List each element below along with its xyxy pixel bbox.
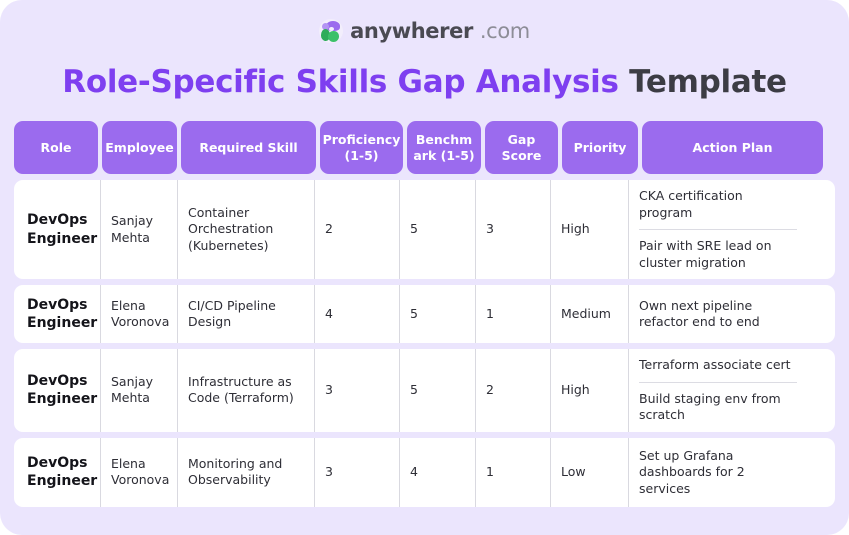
cell-required-skill: CI/CD Pipeline Design — [177, 285, 314, 343]
column-header-proficiency: Proficiency (1-5) — [320, 121, 403, 174]
cell-priority: High — [550, 180, 628, 279]
cell-gap-score: 3 — [475, 180, 550, 279]
column-header-action-plan: Action Plan — [642, 121, 823, 174]
cell-gap-score: 1 — [475, 438, 550, 508]
cell-required-skill: Infrastructure as Code (Terraform) — [177, 349, 314, 432]
cell-priority: Low — [550, 438, 628, 508]
action-item: Pair with SRE lead on cluster migration — [639, 229, 797, 279]
cell-employee: Sanjay Mehta — [100, 349, 177, 432]
cell-employee: Sanjay Mehta — [100, 180, 177, 279]
column-header-required-skill: Required Skill — [181, 121, 316, 174]
cell-proficiency: 3 — [314, 349, 399, 432]
column-header-benchmark: Benchm ark (1-5) — [407, 121, 481, 174]
cell-action-plan: Set up Grafana dashboards for 2 services — [628, 438, 807, 508]
globe-logo-icon — [319, 19, 343, 43]
cell-benchmark: 5 — [399, 349, 475, 432]
brand-logo: anywherer .com — [0, 16, 849, 46]
cell-role: DevOps Engineer — [14, 349, 100, 432]
cell-required-skill: Monitoring and Observability — [177, 438, 314, 508]
cell-action-plan: Terraform associate cert Build staging e… — [628, 349, 807, 432]
cell-role: DevOps Engineer — [14, 180, 100, 279]
table-row: DevOps Engineer Elena Voronova Monitorin… — [14, 438, 835, 508]
cell-role: DevOps Engineer — [14, 285, 100, 343]
table-row: DevOps Engineer Elena Voronova CI/CD Pip… — [14, 285, 835, 343]
cell-action-plan: CKA certification program Pair with SRE … — [628, 180, 807, 279]
cell-gap-score: 1 — [475, 285, 550, 343]
column-header-role: Role — [14, 121, 98, 174]
brand-name: anywherer — [350, 19, 473, 43]
action-item: Own next pipeline refactor end to end — [639, 288, 797, 341]
cell-benchmark: 5 — [399, 285, 475, 343]
template-page: anywherer .com Role-Specific Skills Gap … — [0, 0, 849, 535]
cell-employee: Elena Voronova — [100, 438, 177, 508]
column-header-employee: Employee — [102, 121, 177, 174]
cell-proficiency: 4 — [314, 285, 399, 343]
action-item: CKA certification program — [639, 180, 797, 229]
cell-required-skill: Container Orchestration (Kubernetes) — [177, 180, 314, 279]
cell-priority: Medium — [550, 285, 628, 343]
cell-gap-score: 2 — [475, 349, 550, 432]
page-title-plain: Template — [629, 64, 787, 100]
cell-role: DevOps Engineer — [14, 438, 100, 508]
brand-tld: .com — [480, 19, 530, 43]
cell-proficiency: 3 — [314, 438, 399, 508]
skills-gap-table: Role Employee Required Skill Proficiency… — [14, 121, 835, 507]
action-item: Build staging env from scratch — [639, 382, 797, 432]
cell-proficiency: 2 — [314, 180, 399, 279]
action-item: Terraform associate cert — [639, 349, 797, 382]
page-title-accent: Role-Specific Skills Gap Analysis — [62, 64, 618, 100]
action-item: Set up Grafana dashboards for 2 services — [639, 438, 797, 508]
table-row: DevOps Engineer Sanjay Mehta Container O… — [14, 180, 835, 279]
cell-employee: Elena Voronova — [100, 285, 177, 343]
cell-priority: High — [550, 349, 628, 432]
table-row: DevOps Engineer Sanjay Mehta Infrastruct… — [14, 349, 835, 432]
cell-benchmark: 5 — [399, 180, 475, 279]
column-header-gap-score: Gap Score — [485, 121, 558, 174]
table-header-row: Role Employee Required Skill Proficiency… — [14, 121, 835, 174]
column-header-priority: Priority — [562, 121, 638, 174]
page-title: Role-Specific Skills Gap Analysis Templa… — [0, 64, 849, 100]
cell-benchmark: 4 — [399, 438, 475, 508]
cell-action-plan: Own next pipeline refactor end to end — [628, 285, 807, 343]
